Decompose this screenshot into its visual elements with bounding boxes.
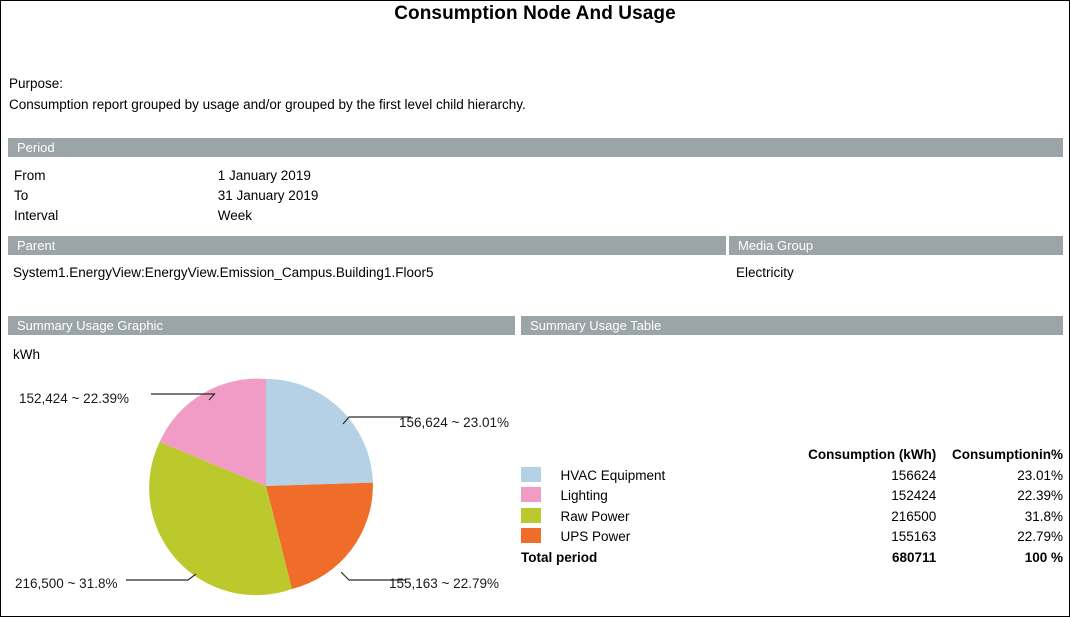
period-from-label: From — [14, 166, 214, 186]
page-title: Consumption Node And Usage — [1, 3, 1069, 25]
section-header-summary-usage-graphic: Summary Usage Graphic — [8, 316, 515, 335]
legend-swatch-cell — [521, 466, 560, 487]
section-header-parent: Parent — [8, 236, 726, 255]
period-interval-label: Interval — [14, 206, 214, 226]
usage-percent: 22.79% — [936, 527, 1063, 548]
period-to-value: 31 January 2019 — [218, 186, 319, 206]
section-header-media-group: Media Group — [729, 236, 1063, 255]
usage-percent: 31.8% — [936, 507, 1063, 528]
section-header-period: Period — [8, 138, 1063, 157]
table-header-row: Consumption (kWh) Consumptionin% — [521, 445, 1063, 466]
pie-slices — [149, 379, 373, 596]
usage-consumption: 155163 — [791, 527, 936, 548]
total-percent: 100 % — [936, 548, 1063, 569]
usage-name: HVAC Equipment — [560, 466, 791, 487]
purpose-label: Purpose: — [9, 76, 63, 91]
usage-percent: 22.39% — [936, 486, 1063, 507]
section-header-summary-usage-table: Summary Usage Table — [521, 316, 1063, 335]
pie-label-lighting: 152,424 ~ 22.39% — [19, 391, 129, 406]
table-row: Lighting 152424 22.39% — [521, 486, 1063, 507]
legend-swatch-ups-power — [521, 528, 541, 543]
parent-path-value: System1.EnergyView:EnergyView.Emission_C… — [13, 265, 433, 280]
legend-swatch-cell — [521, 527, 560, 548]
usage-consumption: 156624 — [791, 466, 936, 487]
purpose-description: Consumption report grouped by usage and/… — [9, 97, 526, 112]
period-details: From 1 January 2019 To 31 January 2019 I… — [14, 166, 318, 226]
table-row: Raw Power 216500 31.8% — [521, 507, 1063, 528]
table-row: HVAC Equipment 156624 23.01% — [521, 466, 1063, 487]
period-row-to: To 31 January 2019 — [14, 186, 318, 206]
period-row-interval: Interval Week — [14, 206, 318, 226]
pie-label-raw-power: 216,500 ~ 31.8% — [15, 576, 117, 591]
header-swatch — [521, 445, 560, 466]
period-row-from: From 1 January 2019 — [14, 166, 318, 186]
header-consumption: Consumption (kWh) — [791, 445, 936, 466]
period-from-value: 1 January 2019 — [218, 166, 311, 186]
legend-swatch-cell — [521, 486, 560, 507]
legend-swatch-hvac-equipment — [521, 467, 541, 482]
pie-label-ups-power: 155,163 ~ 22.79% — [389, 576, 499, 591]
period-to-label: To — [14, 186, 214, 206]
usage-percent: 23.01% — [936, 466, 1063, 487]
total-consumption: 680711 — [791, 548, 936, 569]
leader-line-raw-power — [126, 574, 196, 580]
report-page: Consumption Node And Usage Purpose: Cons… — [0, 0, 1070, 617]
legend-swatch-cell — [521, 507, 560, 528]
header-consumption-percent: Consumptionin% — [936, 445, 1063, 466]
legend-swatch-lighting — [521, 487, 541, 502]
summary-usage-table: Consumption (kWh) Consumptionin% HVAC Eq… — [521, 445, 1063, 568]
usage-consumption: 216500 — [791, 507, 936, 528]
usage-consumption: 152424 — [791, 486, 936, 507]
usage-name: UPS Power — [560, 527, 791, 548]
usage-name: Lighting — [560, 486, 791, 507]
total-label: Total period — [521, 548, 791, 569]
table-total-row: Total period 680711 100 % — [521, 548, 1063, 569]
header-usage-name — [560, 445, 791, 466]
period-interval-value: Week — [218, 206, 252, 226]
pie-label-hvac-equipment: 156,624 ~ 23.01% — [399, 415, 509, 430]
table-body: HVAC Equipment 156624 23.01% Lighting 15… — [521, 466, 1063, 569]
chart-unit-label: kWh — [13, 347, 40, 362]
pie-slice-hvac-equipment — [266, 379, 373, 486]
media-group-value: Electricity — [736, 265, 794, 280]
usage-name: Raw Power — [560, 507, 791, 528]
table-row: UPS Power 155163 22.79% — [521, 527, 1063, 548]
legend-swatch-raw-power — [521, 508, 541, 523]
table-head: Consumption (kWh) Consumptionin% — [521, 445, 1063, 466]
